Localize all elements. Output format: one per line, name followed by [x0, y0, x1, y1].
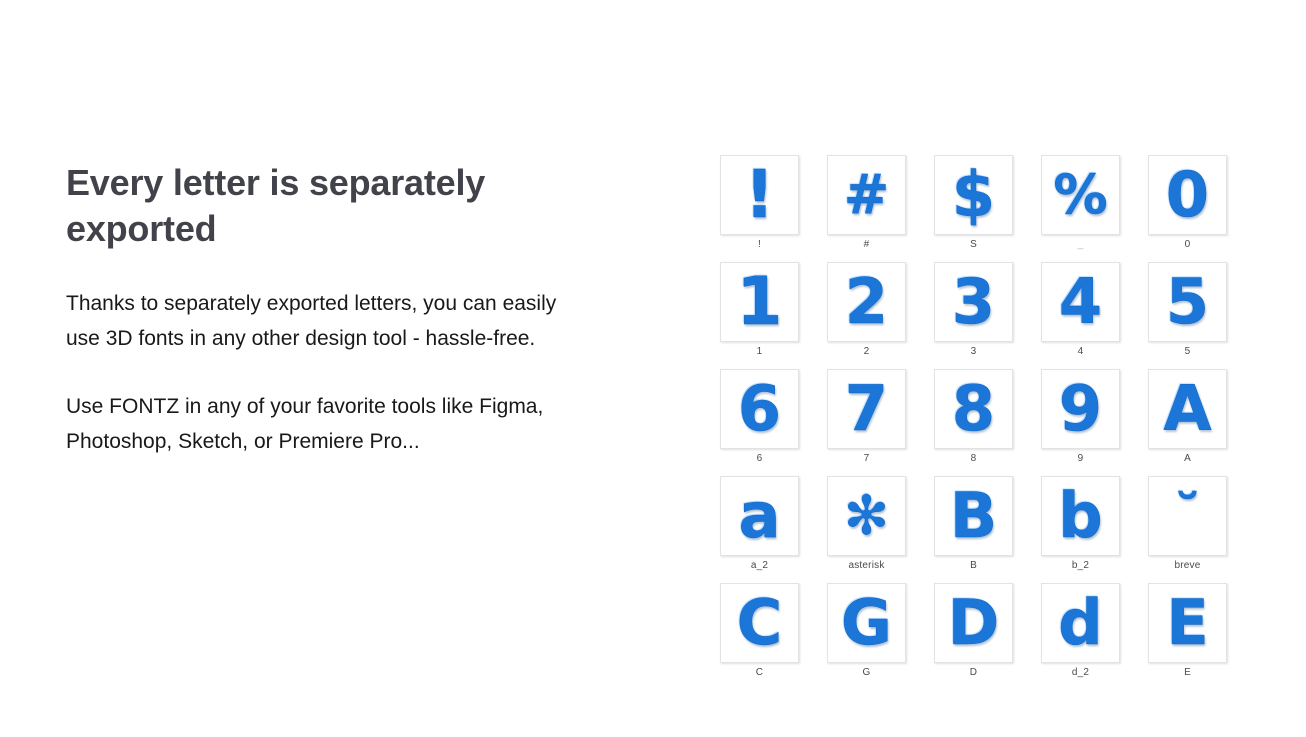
glyph-art-icon: %	[1053, 168, 1107, 222]
glyph-tile[interactable]: 44	[1027, 262, 1134, 369]
glyph-art-icon: B	[950, 485, 997, 547]
glyph-label: 8	[971, 453, 977, 464]
glyph-thumbnail[interactable]: $	[934, 155, 1013, 235]
glyph-tile[interactable]: CC	[706, 583, 813, 690]
glyph-label: C	[756, 667, 763, 678]
glyph-tile[interactable]: !!	[706, 155, 813, 262]
glyph-thumbnail[interactable]: 9	[1041, 369, 1120, 449]
glyph-art-icon: d	[1058, 592, 1102, 654]
description-paragraph-1: Thanks to separately exported letters, y…	[66, 286, 586, 357]
glyph-art-icon: 3	[952, 271, 995, 333]
glyph-thumbnail[interactable]: C	[720, 583, 799, 663]
glyph-art-icon: 8	[952, 378, 995, 440]
glyph-thumbnail[interactable]: 3	[934, 262, 1013, 342]
glyph-thumbnail[interactable]: E	[1148, 583, 1227, 663]
glyph-label: 2	[864, 346, 870, 357]
glyph-tile[interactable]: %_	[1027, 155, 1134, 262]
glyph-art-icon: #	[844, 168, 889, 222]
glyph-label: D	[970, 667, 977, 678]
glyph-label: b_2	[1072, 560, 1089, 571]
glyph-thumbnail[interactable]: 0	[1148, 155, 1227, 235]
glyph-thumbnail[interactable]: 7	[827, 369, 906, 449]
glyph-label: 6	[757, 453, 763, 464]
glyph-tile[interactable]: ˘breve	[1134, 476, 1241, 583]
marketing-copy-block: Every letter is separately exported Than…	[66, 160, 586, 459]
glyph-tile[interactable]: 22	[813, 262, 920, 369]
glyph-art-icon: a	[739, 485, 781, 547]
description-paragraph-2: Use FONTZ in any of your favorite tools …	[66, 389, 586, 460]
glyph-label: G	[863, 667, 871, 678]
glyph-tile[interactable]: AA	[1134, 369, 1241, 476]
glyph-art-icon: C	[737, 592, 783, 654]
glyph-tile[interactable]: 11	[706, 262, 813, 369]
glyph-label: 1	[757, 346, 763, 357]
glyph-art-icon: 6	[738, 378, 781, 440]
glyph-label: _	[1078, 239, 1084, 250]
glyph-tile[interactable]: EE	[1134, 583, 1241, 690]
page-root: Every letter is separately exported Than…	[0, 0, 1306, 737]
glyph-tile[interactable]: DD	[920, 583, 1027, 690]
glyph-tile[interactable]: GG	[813, 583, 920, 690]
glyph-art-icon: E	[1166, 592, 1208, 654]
glyph-label: E	[1184, 667, 1191, 678]
glyph-art-icon: ˘	[1174, 489, 1201, 543]
glyph-label: d_2	[1072, 667, 1089, 678]
glyph-label: asterisk	[848, 560, 884, 571]
glyph-tile[interactable]: 99	[1027, 369, 1134, 476]
glyph-tile[interactable]: 55	[1134, 262, 1241, 369]
glyph-art-icon: 9	[1059, 378, 1102, 440]
glyph-art-icon: 7	[845, 378, 888, 440]
glyph-art-icon: $	[952, 164, 995, 226]
glyph-label: B	[970, 560, 977, 571]
glyph-art-icon: 1	[737, 269, 783, 335]
glyph-art-icon: A	[1164, 378, 1212, 440]
glyph-tile[interactable]: BB	[920, 476, 1027, 583]
glyph-thumbnail[interactable]: !	[720, 155, 799, 235]
glyph-label: breve	[1174, 560, 1200, 571]
glyph-tile[interactable]: 66	[706, 369, 813, 476]
glyph-art-icon: 5	[1166, 271, 1209, 333]
glyph-art-icon: !	[744, 162, 774, 228]
glyph-thumbnail[interactable]: A	[1148, 369, 1227, 449]
glyph-label: 3	[971, 346, 977, 357]
glyph-grid: !!##$S%_00112233445566778899AAaa_2✻aster…	[706, 155, 1236, 690]
glyph-tile[interactable]: aa_2	[706, 476, 813, 583]
glyph-thumbnail[interactable]: d	[1041, 583, 1120, 663]
glyph-thumbnail[interactable]: 8	[934, 369, 1013, 449]
glyph-label: A	[1184, 453, 1191, 464]
glyph-tile[interactable]: bb_2	[1027, 476, 1134, 583]
glyph-art-icon: D	[948, 592, 999, 654]
glyph-art-icon: 4	[1059, 271, 1102, 333]
glyph-label: 5	[1185, 346, 1191, 357]
glyph-thumbnail[interactable]: G	[827, 583, 906, 663]
glyph-thumbnail[interactable]: %	[1041, 155, 1120, 235]
glyph-thumbnail[interactable]: ✻	[827, 476, 906, 556]
glyph-thumbnail[interactable]: 6	[720, 369, 799, 449]
glyph-tile[interactable]: ##	[813, 155, 920, 262]
glyph-label: a_2	[751, 560, 768, 571]
glyph-thumbnail[interactable]: D	[934, 583, 1013, 663]
glyph-label: 7	[864, 453, 870, 464]
glyph-label: 4	[1078, 346, 1084, 357]
glyph-thumbnail[interactable]: #	[827, 155, 906, 235]
glyph-art-icon: 0	[1166, 164, 1209, 226]
glyph-label: S	[970, 239, 977, 250]
glyph-thumbnail[interactable]: ˘	[1148, 476, 1227, 556]
glyph-tile[interactable]: ✻asterisk	[813, 476, 920, 583]
glyph-thumbnail[interactable]: 2	[827, 262, 906, 342]
glyph-thumbnail[interactable]: 1	[720, 262, 799, 342]
glyph-tile[interactable]: dd_2	[1027, 583, 1134, 690]
glyph-thumbnail[interactable]: a	[720, 476, 799, 556]
glyph-tile[interactable]: 33	[920, 262, 1027, 369]
glyph-art-icon: 2	[845, 271, 888, 333]
glyph-label: 9	[1078, 453, 1084, 464]
glyph-thumbnail[interactable]: B	[934, 476, 1013, 556]
glyph-thumbnail[interactable]: 5	[1148, 262, 1227, 342]
page-title: Every letter is separately exported	[66, 160, 586, 252]
glyph-label: #	[864, 239, 870, 250]
glyph-art-icon: ✻	[844, 489, 889, 543]
glyph-thumbnail[interactable]: b	[1041, 476, 1120, 556]
glyph-art-icon: G	[841, 592, 892, 654]
glyph-art-icon: b	[1058, 485, 1102, 547]
glyph-label: 0	[1185, 239, 1191, 250]
glyph-tile[interactable]: 77	[813, 369, 920, 476]
glyph-tile[interactable]: 00	[1134, 155, 1241, 262]
glyph-tile[interactable]: $S	[920, 155, 1027, 262]
glyph-thumbnail[interactable]: 4	[1041, 262, 1120, 342]
glyph-label: !	[758, 239, 761, 250]
glyph-tile[interactable]: 88	[920, 369, 1027, 476]
